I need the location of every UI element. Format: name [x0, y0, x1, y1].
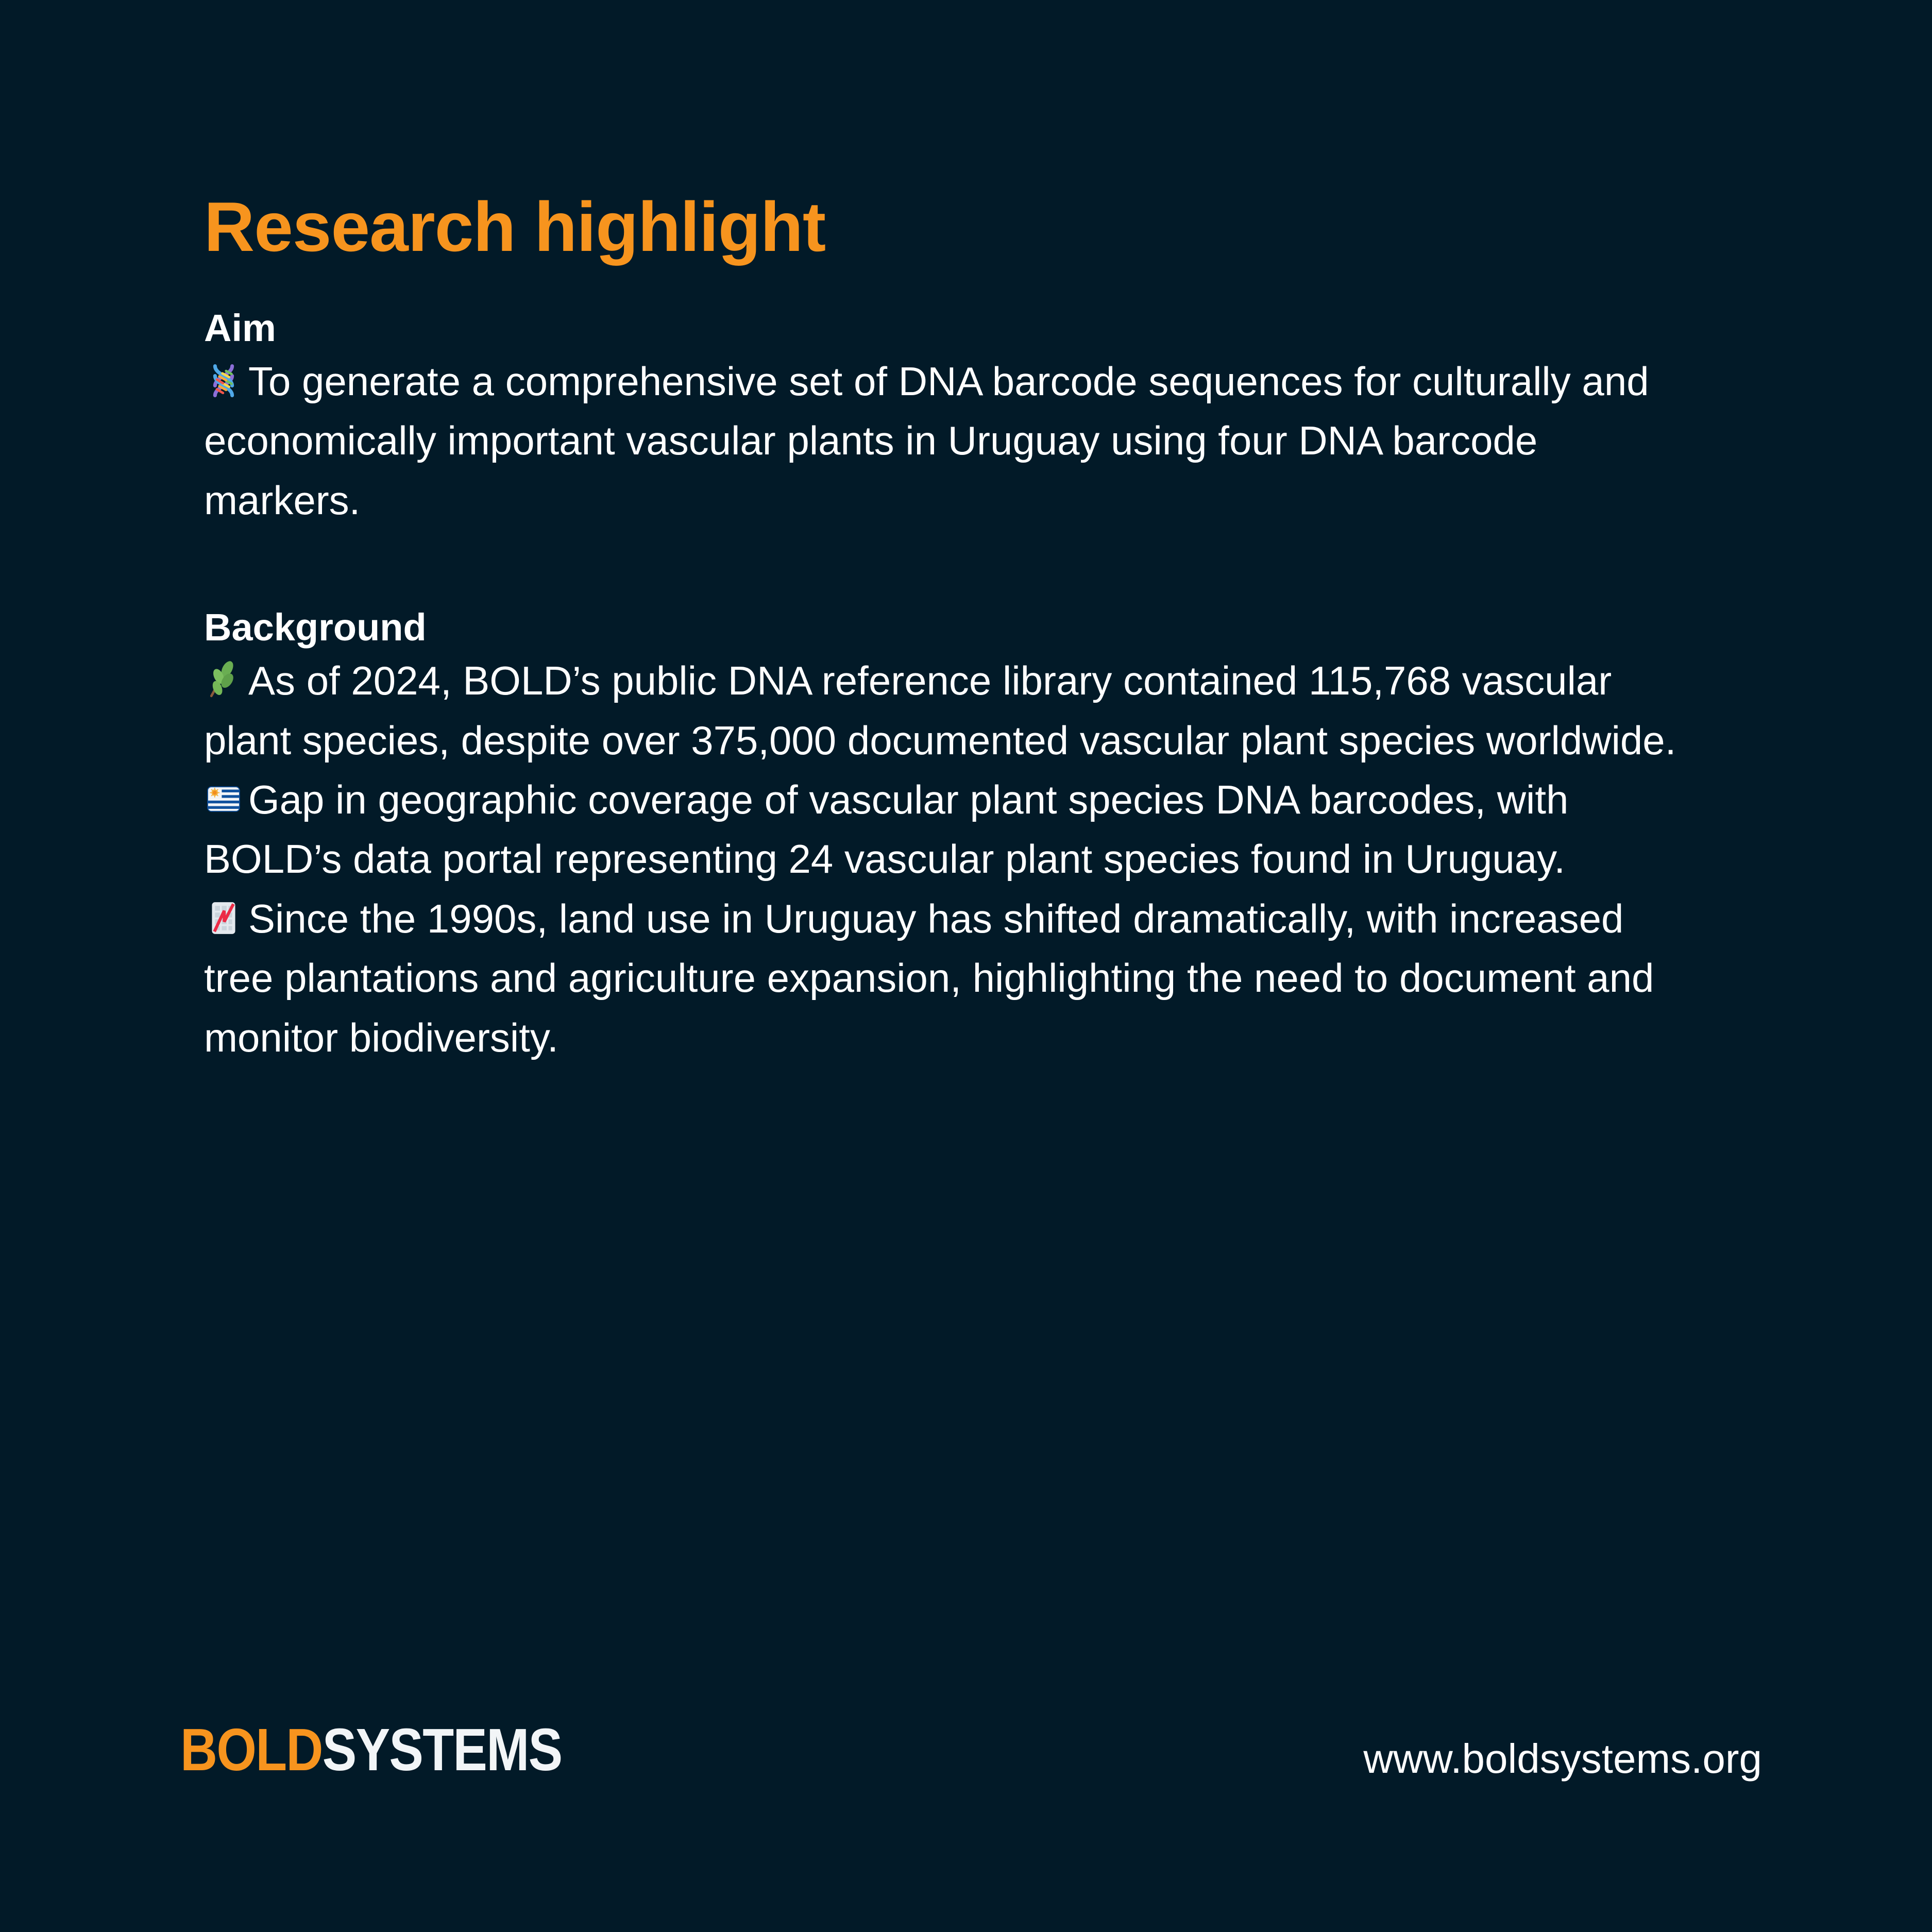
section-heading-aim: Aim	[204, 307, 1698, 350]
footer: BOLDSYSTEMS www.boldsystems.org	[180, 1713, 1762, 1780]
uruguay-flag-icon	[204, 779, 243, 819]
herb-icon	[204, 660, 243, 700]
site-url[interactable]: www.boldsystems.org	[1363, 1738, 1762, 1780]
background-bullet-2-text: Gap in geographic coverage of vascular p…	[204, 777, 1568, 882]
background-bullet-3-text: Since the 1990s, land use in Uruguay has…	[204, 896, 1654, 1060]
boldsystems-logo: BOLDSYSTEMS	[180, 1720, 562, 1780]
section-heading-background: Background	[204, 606, 1698, 649]
background-bullet-2: Gap in geographic coverage of vascular p…	[204, 770, 1698, 889]
page-title: Research highlight	[204, 192, 1698, 262]
background-bullet-1-text: As of 2024, BOLD’s public DNA reference …	[204, 658, 1676, 762]
dna-icon	[204, 361, 243, 400]
logo-bold-text: BOLD	[180, 1716, 323, 1783]
background-bullet-1: As of 2024, BOLD’s public DNA reference …	[204, 651, 1698, 770]
section-spacer	[204, 530, 1698, 606]
section-background: Background As of 2024, BOLD’s public DNA…	[204, 606, 1698, 1067]
logo-systems-text: SYSTEMS	[323, 1716, 562, 1783]
content-column: Research highlight Aim	[204, 192, 1698, 1067]
section-body-aim: To generate a comprehensive set of DNA b…	[204, 352, 1698, 530]
section-aim: Aim	[204, 307, 1698, 530]
aim-bullet-text: To generate a comprehensive set of DNA b…	[204, 359, 1649, 523]
research-highlight-card: Research highlight Aim	[0, 0, 1932, 1932]
chart-increasing-icon	[204, 899, 243, 938]
background-bullet-3: Since the 1990s, land use in Uruguay has…	[204, 889, 1698, 1067]
